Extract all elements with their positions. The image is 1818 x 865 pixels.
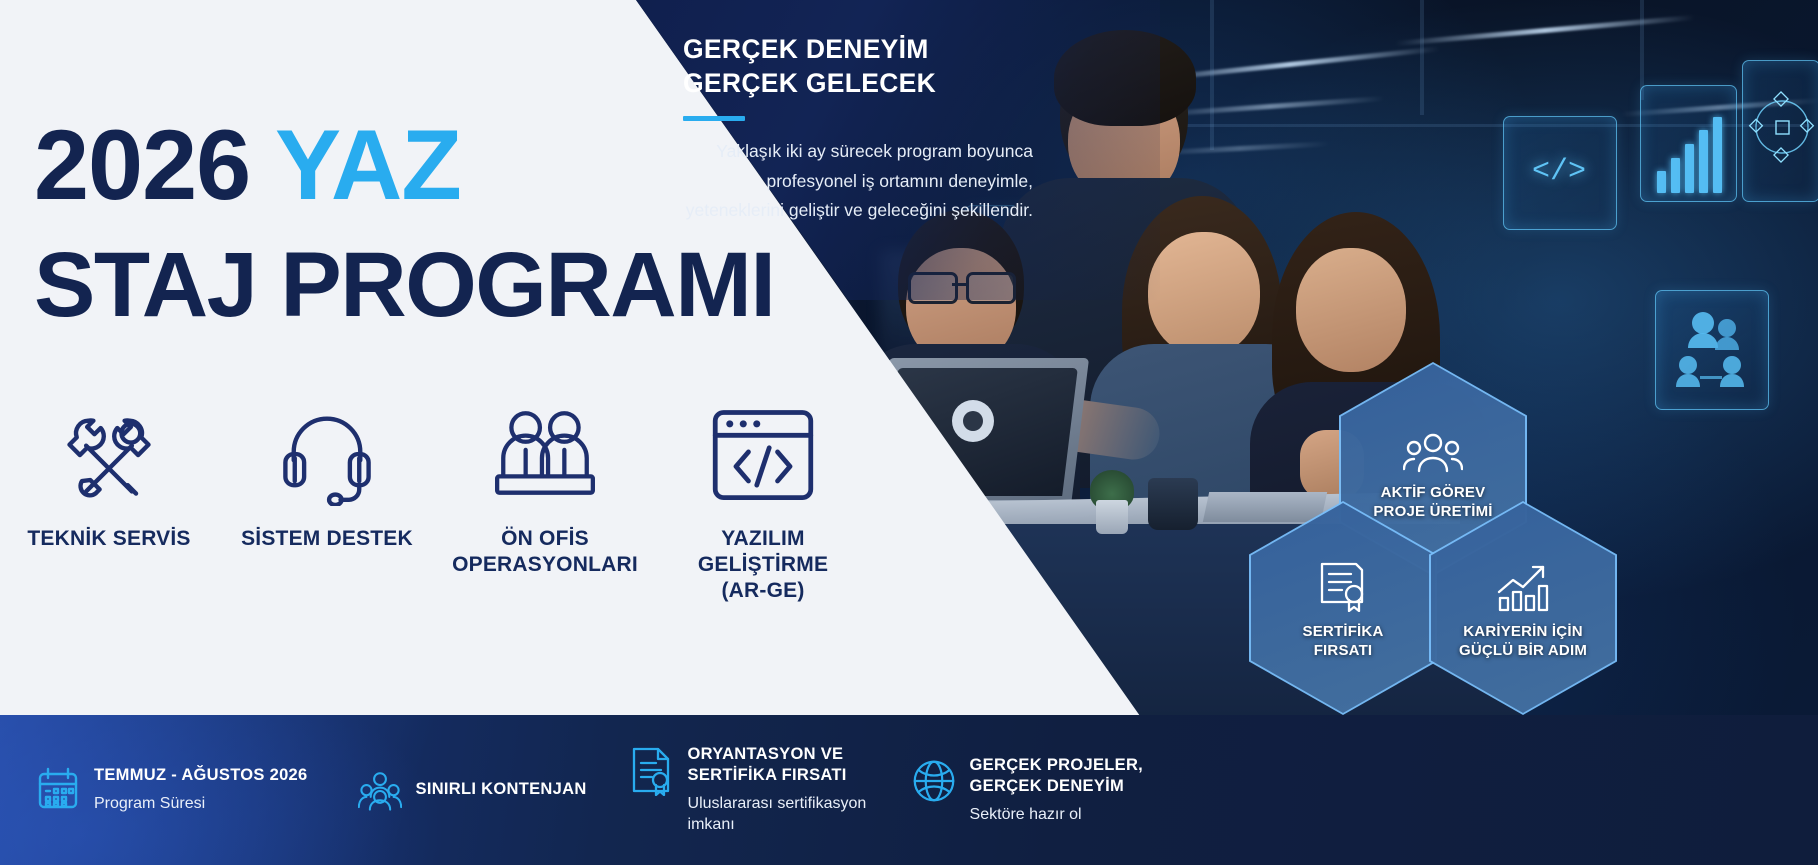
bottom-item-title-line1: ORYANTASYON VE — [688, 744, 870, 765]
service-item-system-support[interactable]: SİSTEM DESTEK — [218, 398, 436, 604]
bottom-info-bar: TEMMUZ - AĞUSTOS 2026 Program Süresi — [0, 715, 1818, 865]
tools-wrench-screwdriver-icon — [57, 398, 161, 510]
mug-icon — [1148, 478, 1198, 530]
service-item-technical[interactable]: TEKNİK SERVİS — [0, 398, 218, 604]
hex-label: SERTİFİKA FIRSATI — [1303, 623, 1384, 661]
service-label-line1: YAZILIM GELİŞTİRME — [654, 526, 872, 578]
bottom-item-subtitle: Uluslararası sertifikasyon imkanı — [688, 793, 870, 836]
ceiling-strut — [1210, 0, 1214, 150]
service-label: SİSTEM DESTEK — [241, 526, 413, 552]
code-slash-icon: </> — [1503, 116, 1615, 228]
ceiling-strut — [1420, 0, 1424, 115]
hex-badge-career[interactable]: KARİYERİN İÇİN GÜÇLÜ BİR ADIM — [1429, 501, 1617, 715]
service-label-line1: ÖN OFİS — [452, 526, 638, 552]
hex-badge-group: AKTİF GÖREV PROJE ÜRETİMİ — [1268, 362, 1598, 627]
service-label: ÖN OFİS OPERASYONLARI — [452, 526, 638, 578]
front-desk-people-icon — [489, 398, 601, 510]
service-item-front-office[interactable]: ÖN OFİS OPERASYONLARI — [436, 398, 654, 604]
service-label: TEKNİK SERVİS — [27, 526, 190, 552]
users-group-icon — [1672, 310, 1754, 390]
service-label-line2: OPERASYONLARI — [452, 552, 638, 578]
hex-label-line2: GÜÇLÜ BİR ADIM — [1459, 642, 1587, 661]
hex-badge-certificate[interactable]: SERTİFİKA FIRSATI — [1249, 501, 1437, 715]
right-title: GERÇEK DENEYİM GERÇEK GELECEK — [683, 33, 1033, 101]
people-group-icon — [358, 766, 402, 814]
bottom-item-subtitle: Program Süresi — [94, 793, 308, 815]
service-label-line2: (AR-GE) — [654, 578, 872, 604]
right-title-line2: GERÇEK GELECEK — [683, 67, 1033, 101]
accent-rule — [683, 116, 745, 121]
hex-label-line2: FIRSATI — [1303, 642, 1384, 661]
right-title-line1: GERÇEK DENEYİM — [683, 33, 1033, 67]
plant-pot — [1096, 500, 1128, 534]
calendar-icon — [36, 765, 80, 811]
bottom-item-title-line2: SERTİFİKA FIRSATI — [688, 765, 870, 786]
bottom-item-title: SINIRLI KONTENJAN — [416, 779, 587, 800]
hex-label-line1: AKTİF GÖREV — [1373, 484, 1492, 503]
hex-label-line1: KARİYERİN İÇİN — [1459, 623, 1587, 642]
bottom-item-projects[interactable]: GERÇEK PROJELER, GERÇEK DENEYİM Sektöre … — [912, 755, 1144, 825]
bottom-item-title-line2: GERÇEK DENEYİM — [970, 776, 1144, 797]
hud-chart-panel — [1640, 85, 1737, 202]
globe-icon — [912, 755, 956, 805]
headline-accent: YAZ — [275, 109, 461, 220]
headline-line-2: STAJ PROGRAMI — [34, 242, 794, 329]
bottom-item-title: ORYANTASYON VE SERTİFİKA FIRSATI — [688, 744, 870, 787]
service-list: TEKNİK SERVİS SİSTEM DESTEK — [0, 398, 880, 604]
service-item-software[interactable]: YAZILIM GELİŞTİRME (AR-GE) — [654, 398, 872, 604]
headset-icon — [275, 398, 379, 510]
bottom-item-title-line1: GERÇEK PROJELER, — [970, 755, 1144, 776]
headline-line-1: 2026 YAZ — [34, 118, 794, 212]
headline-year: 2026 — [34, 109, 275, 220]
bottom-item-quota[interactable]: SINIRLI KONTENJAN — [358, 766, 587, 814]
hex-label: KARİYERİN İÇİN GÜÇLÜ BİR ADIM — [1459, 623, 1587, 661]
bottom-item-duration[interactable]: TEMMUZ - AĞUSTOS 2026 Program Süresi — [36, 765, 308, 814]
code-window-icon — [709, 398, 817, 510]
bottom-item-title: GERÇEK PROJELER, GERÇEK DENEYİM — [970, 755, 1144, 798]
certificate-document-icon — [630, 744, 674, 796]
service-label: YAZILIM GELİŞTİRME (AR-GE) — [654, 526, 872, 604]
laptop-logo-inner — [963, 411, 983, 431]
bottom-item-title: TEMMUZ - AĞUSTOS 2026 — [94, 765, 308, 786]
right-paragraph: Yaklaşık iki ay sürecek program boyunca … — [683, 137, 1033, 226]
hex-label-line1: SERTİFİKA — [1303, 623, 1384, 642]
bottom-item-subtitle: Sektöre hazır ol — [970, 804, 1144, 826]
growth-chart-icon — [1495, 556, 1551, 612]
network-nodes-icon — [1748, 88, 1816, 166]
ceiling-light-icon — [1395, 15, 1694, 46]
poster-root: </> — [0, 0, 1818, 865]
page-title: 2026 YAZ STAJ PROGRAMI — [34, 118, 794, 329]
certificate-icon — [1318, 556, 1368, 612]
group-people-icon — [1403, 417, 1463, 473]
bottom-item-orientation[interactable]: ORYANTASYON VE SERTİFİKA FIRSATI Uluslar… — [630, 744, 870, 836]
right-text-block: GERÇEK DENEYİM GERÇEK GELECEK Yaklaşık i… — [683, 33, 1033, 226]
